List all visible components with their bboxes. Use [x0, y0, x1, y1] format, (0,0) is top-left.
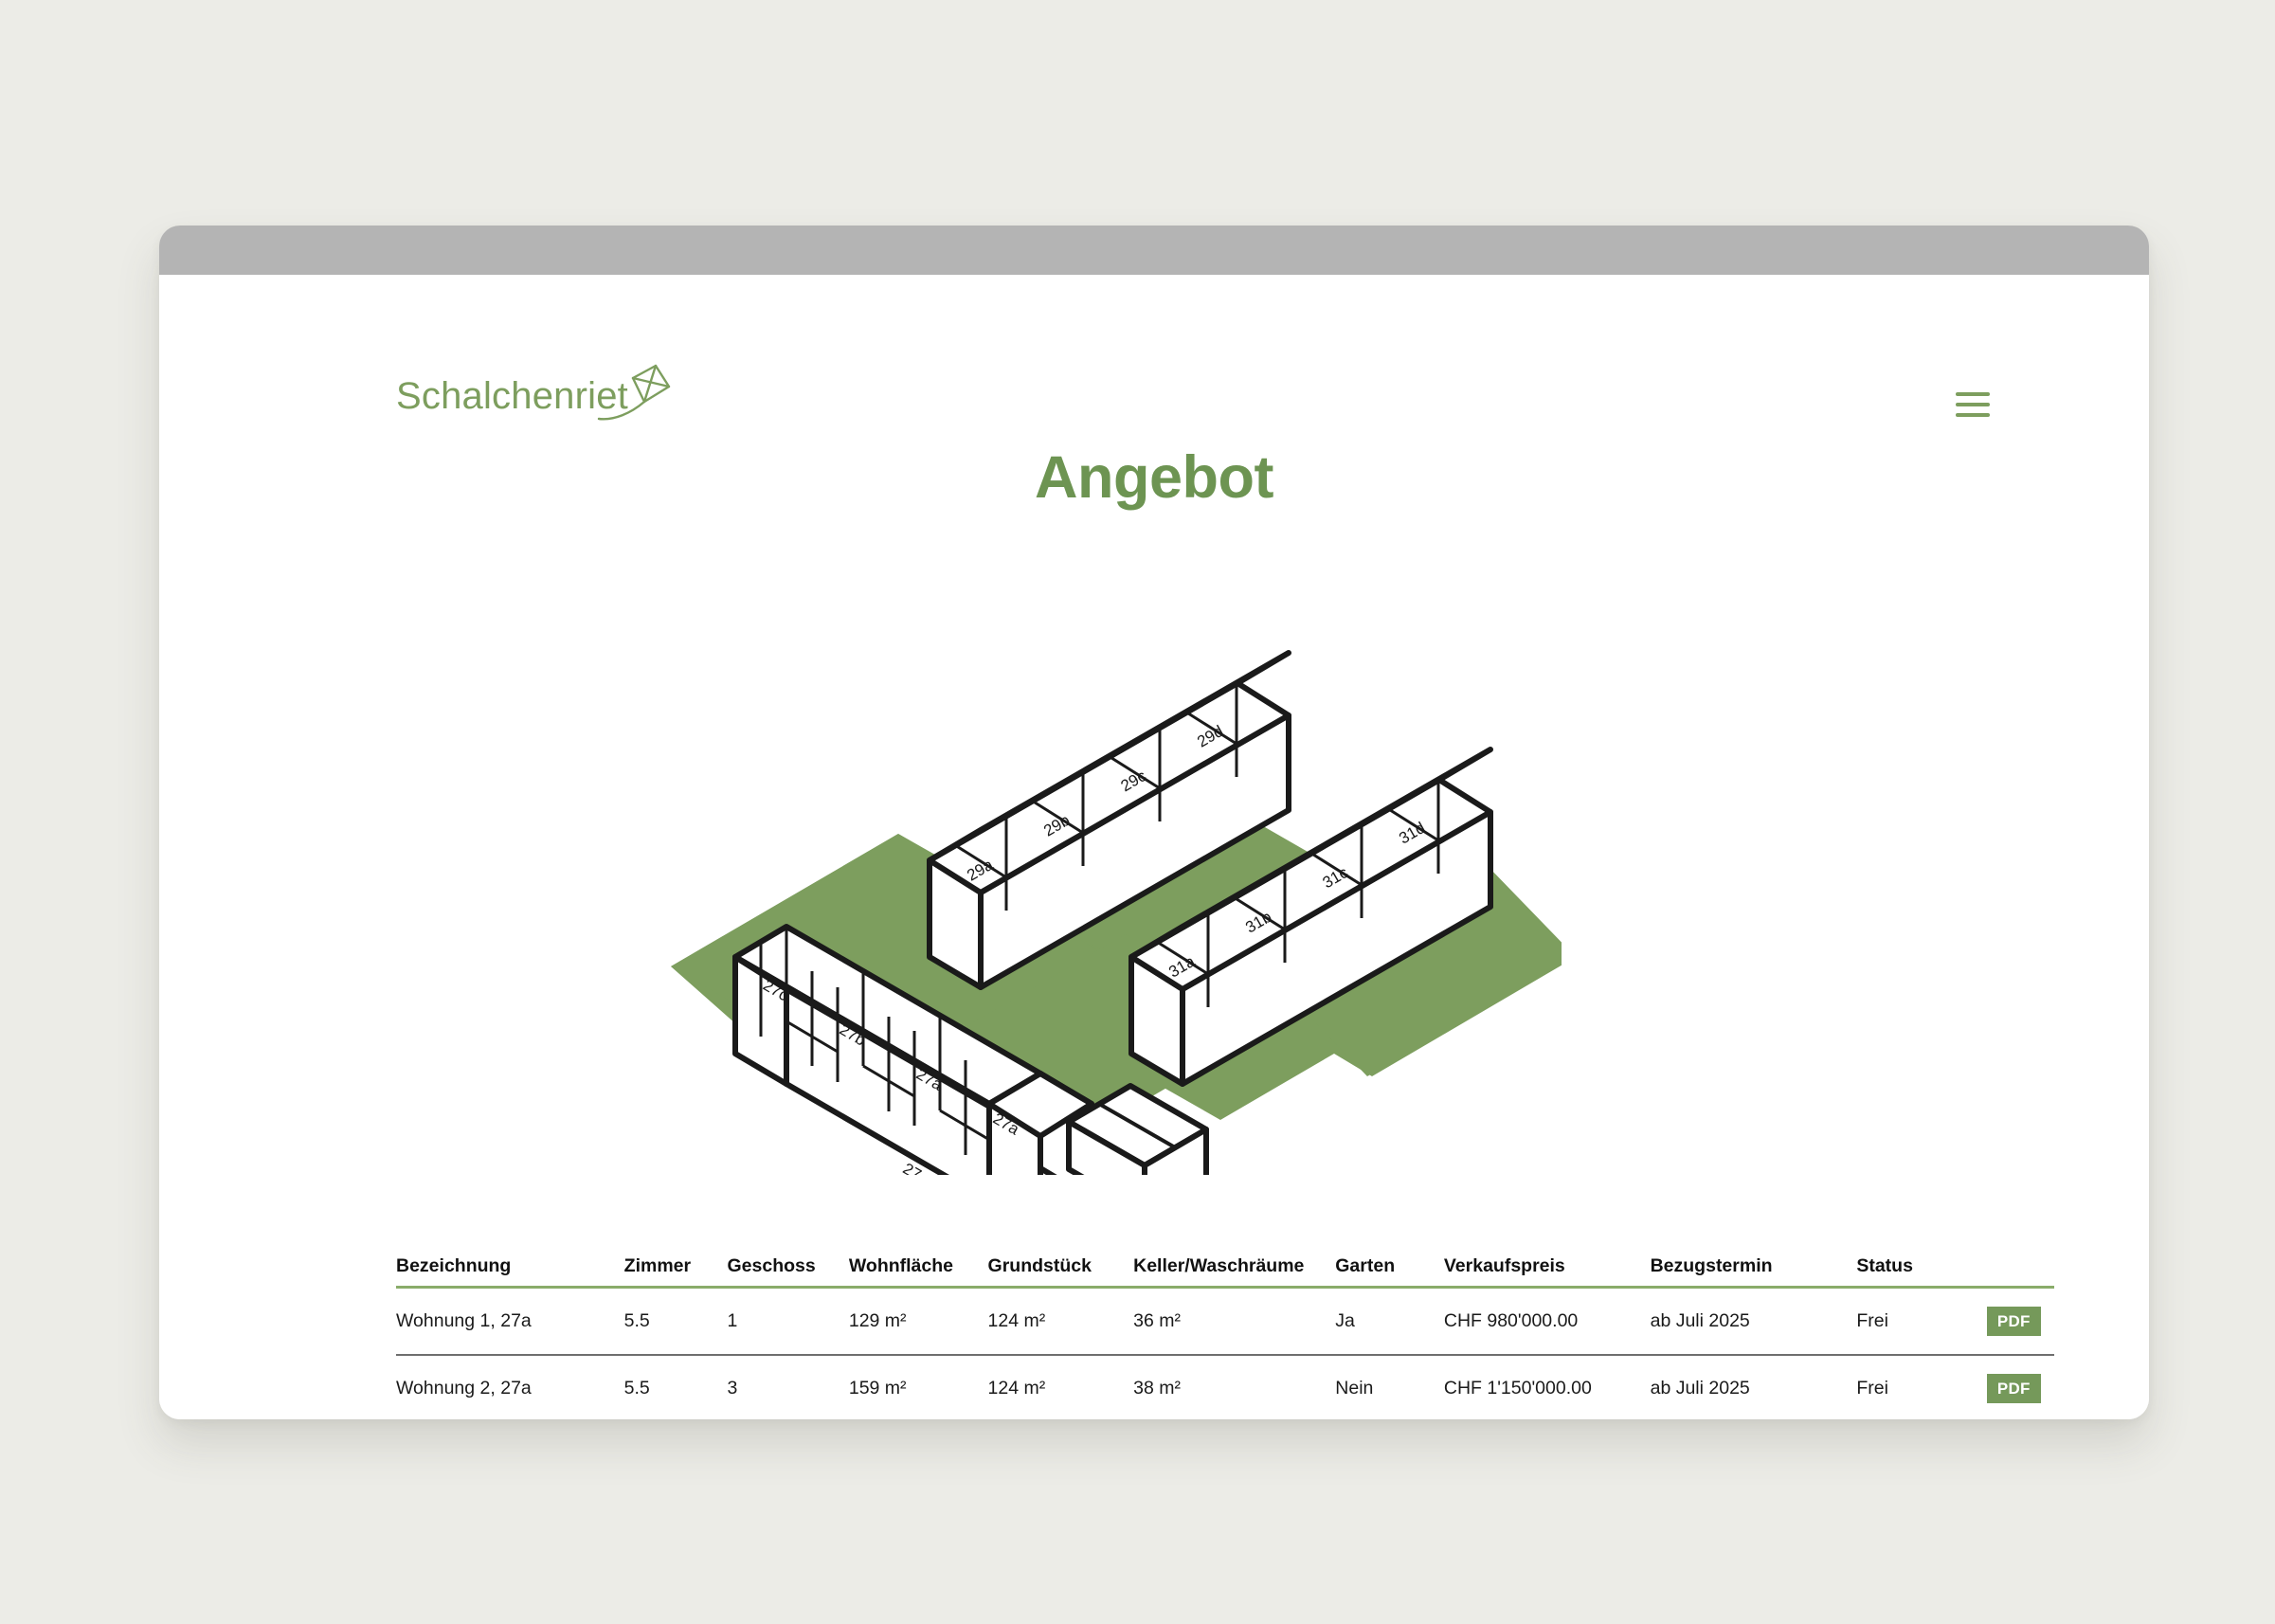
hamburger-line-2	[1956, 403, 1990, 406]
cell-zimmer: 5.5	[624, 1355, 728, 1419]
pdf-download-button[interactable]: PDF	[1987, 1307, 2041, 1336]
cell-wohnflaeche: 159 m²	[849, 1355, 988, 1419]
cell-grundstueck: 124 m²	[988, 1355, 1134, 1419]
col-header-bezeichnung: Bezeichnung	[396, 1255, 624, 1288]
col-header-geschoss: Geschoss	[728, 1255, 849, 1288]
table-header-row: Bezeichnung Zimmer Geschoss Wohnfläche G…	[396, 1255, 2054, 1288]
hamburger-menu-icon[interactable]	[1956, 392, 1990, 417]
cell-bezugstermin: ab Juli 2025	[1651, 1355, 1857, 1419]
cell-garten: Nein	[1335, 1355, 1444, 1419]
brand-logo[interactable]: Schalchenriet	[396, 377, 628, 415]
site-header: Schalchenriet	[159, 275, 2149, 388]
cell-pdf: PDF	[1987, 1288, 2054, 1356]
col-header-garten: Garten	[1335, 1255, 1444, 1288]
offer-table-head: Bezeichnung Zimmer Geschoss Wohnfläche G…	[396, 1255, 2054, 1288]
page-title: Angebot	[159, 443, 2149, 512]
cell-verkaufspreis: CHF 980'000.00	[1444, 1288, 1651, 1356]
browser-titlebar	[159, 226, 2149, 275]
cell-pdf: PDF	[1987, 1355, 2054, 1419]
page-viewport: Schalchenriet	[159, 275, 2149, 1419]
page-root: Schalchenriet	[0, 0, 2275, 1624]
browser-window: Schalchenriet	[159, 226, 2149, 1419]
offer-table-container: Bezeichnung Zimmer Geschoss Wohnfläche G…	[396, 1255, 2054, 1419]
kite-icon	[582, 360, 705, 428]
hamburger-line-1	[1956, 392, 1990, 396]
cell-garten: Ja	[1335, 1288, 1444, 1356]
col-header-verkaufspreis: Verkaufspreis	[1444, 1255, 1651, 1288]
col-header-wohnflaeche: Wohnfläche	[849, 1255, 988, 1288]
pdf-download-button[interactable]: PDF	[1987, 1374, 2041, 1403]
table-row: Wohnung 2, 27a 5.5 3 159 m² 124 m² 38 m²…	[396, 1355, 2054, 1419]
cell-status: Frei	[1856, 1355, 1987, 1419]
table-row: Wohnung 1, 27a 5.5 1 129 m² 124 m² 36 m²…	[396, 1288, 2054, 1356]
col-header-bezugstermin: Bezugstermin	[1651, 1255, 1857, 1288]
offer-table-body: Wohnung 1, 27a 5.5 1 129 m² 124 m² 36 m²…	[396, 1288, 2054, 1420]
cell-verkaufspreis: CHF 1'150'000.00	[1444, 1355, 1651, 1419]
col-header-grundstueck: Grundstück	[988, 1255, 1134, 1288]
cell-geschoss: 3	[728, 1355, 849, 1419]
offer-table: Bezeichnung Zimmer Geschoss Wohnfläche G…	[396, 1255, 2054, 1419]
cell-bezeichnung: Wohnung 1, 27a	[396, 1288, 624, 1356]
col-header-keller: Keller/Waschräume	[1133, 1255, 1335, 1288]
cell-wohnflaeche: 129 m²	[849, 1288, 988, 1356]
cell-zimmer: 5.5	[624, 1288, 728, 1356]
col-header-pdf	[1987, 1255, 2054, 1288]
col-header-status: Status	[1856, 1255, 1987, 1288]
cell-geschoss: 1	[728, 1288, 849, 1356]
cell-status: Frei	[1856, 1288, 1987, 1356]
cell-keller: 36 m²	[1133, 1288, 1335, 1356]
site-plan-illustration: 29a 29b 29c 29d	[614, 550, 1562, 1175]
cell-bezeichnung: Wohnung 2, 27a	[396, 1355, 624, 1419]
cell-bezugstermin: ab Juli 2025	[1651, 1288, 1857, 1356]
col-header-zimmer: Zimmer	[624, 1255, 728, 1288]
cell-grundstueck: 124 m²	[988, 1288, 1134, 1356]
cell-keller: 38 m²	[1133, 1355, 1335, 1419]
hamburger-line-3	[1956, 413, 1990, 417]
